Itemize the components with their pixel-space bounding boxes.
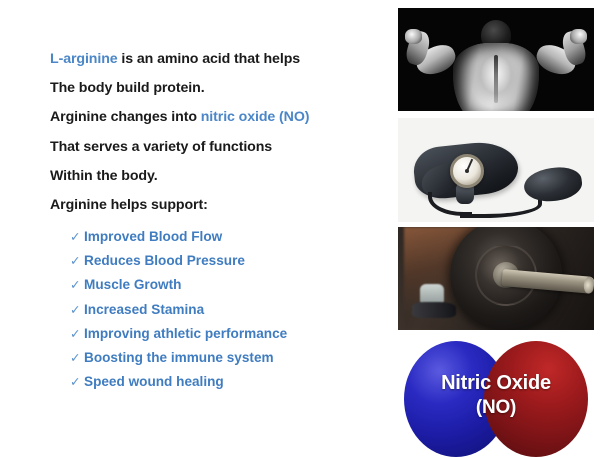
muscle-spine-shape	[494, 55, 498, 103]
list-item: ✓ Improving athletic performance	[70, 327, 380, 341]
lifter-shoe-shape	[412, 302, 456, 318]
barbell-photo	[398, 227, 594, 330]
body-line-1: L-arginine is an amino acid that helps	[50, 52, 380, 66]
blood-pressure-cuff-photo	[398, 118, 594, 222]
body-line-6: Arginine helps support:	[50, 198, 380, 212]
muscle-right-arm-shape	[532, 29, 590, 93]
barbell-bar-end-shape	[583, 276, 594, 294]
body-line-1-rest: is an amino acid that helps	[118, 51, 300, 67]
list-item: ✓ Speed wound healing	[70, 375, 380, 389]
benefit-label: Increased Stamina	[84, 303, 204, 317]
body-line-4: That serves a variety of functions	[50, 140, 380, 154]
benefit-label: Reduces Blood Pressure	[84, 254, 245, 268]
list-item: ✓ Increased Stamina	[70, 303, 380, 317]
slide-canvas: L-arginine is an amino acid that helps T…	[0, 0, 600, 450]
pressure-gauge-icon	[450, 154, 484, 188]
benefit-label: Boosting the immune system	[84, 351, 274, 365]
check-icon: ✓	[70, 328, 84, 341]
body-text-column: L-arginine is an amino acid that helps T…	[50, 52, 380, 399]
nitric-oxide-label: Nitric Oxide (NO)	[398, 341, 594, 450]
check-icon: ✓	[70, 279, 84, 292]
list-item: ✓ Improved Blood Flow	[70, 230, 380, 244]
check-icon: ✓	[70, 255, 84, 268]
image-column: Nitric Oxide (NO)	[398, 0, 595, 450]
benefit-label: Muscle Growth	[84, 278, 181, 292]
list-item: ✓ Muscle Growth	[70, 278, 380, 292]
body-line-3: Arginine changes into nitric oxide (NO)	[50, 110, 380, 124]
check-icon: ✓	[70, 304, 84, 317]
benefits-list: ✓ Improved Blood Flow ✓ Reduces Blood Pr…	[70, 230, 380, 388]
list-item: ✓ Reduces Blood Pressure	[70, 254, 380, 268]
nitric-oxide-label-line2: (NO)	[476, 396, 516, 420]
body-line-3-lead: Arginine changes into	[50, 109, 201, 125]
muscle-left-arm-shape	[402, 29, 460, 93]
body-line-2: The body build protein.	[50, 81, 380, 95]
muscular-back-photo	[398, 8, 594, 111]
check-icon: ✓	[70, 376, 84, 389]
body-line-5: Within the body.	[50, 169, 380, 183]
check-icon: ✓	[70, 231, 84, 244]
gauge-hub-shape	[465, 169, 469, 173]
list-item: ✓ Boosting the immune system	[70, 351, 380, 365]
term-l-arginine: L-arginine	[50, 51, 118, 67]
benefit-label: Improving athletic performance	[84, 327, 287, 341]
nitric-oxide-molecule-graphic: Nitric Oxide (NO)	[398, 341, 594, 450]
muscle-fist-shape	[405, 29, 422, 44]
benefit-label: Speed wound healing	[84, 375, 224, 389]
benefit-label: Improved Blood Flow	[84, 230, 222, 244]
nitric-oxide-label-line1: Nitric Oxide	[441, 371, 551, 397]
muscle-fist-shape	[570, 29, 587, 44]
check-icon: ✓	[70, 352, 84, 365]
term-nitric-oxide: nitric oxide (NO)	[201, 109, 310, 125]
